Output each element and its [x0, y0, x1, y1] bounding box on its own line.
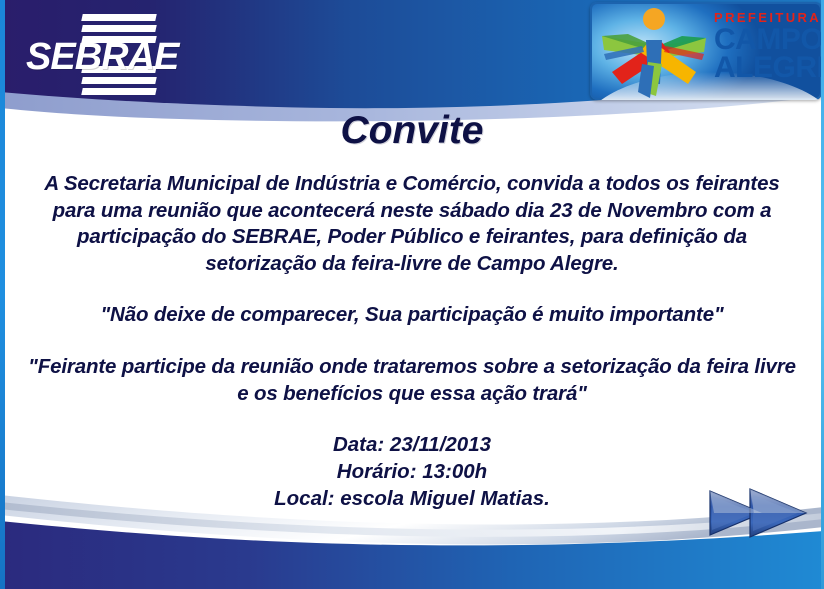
invitation-paragraph-1: A Secretaria Municipal de Indústria e Co… — [42, 171, 782, 278]
invitation-content: Convite A Secretaria Municipal de Indúst… — [10, 104, 814, 512]
event-details: Data: 23/11/2013 Horário: 13:00h Local: … — [10, 432, 814, 512]
sebrae-wordmark: SEBRAE — [26, 38, 191, 76]
left-border-stripe — [0, 0, 5, 589]
event-place: Local: escola Miguel Matias. — [10, 486, 814, 513]
event-time: Horário: 13:00h — [10, 459, 814, 486]
page-title: Convite — [10, 110, 814, 153]
campo-label: CAMPO — [714, 26, 820, 54]
event-date: Data: 23/11/2013 — [10, 432, 814, 459]
campo-alegre-wordmark: PREFEITURA CAMPO ALEGRE — [714, 11, 820, 81]
invitation-paragraph-3: "Feirante participe da reunião onde trat… — [27, 354, 797, 407]
sebrae-logo: SEBRAE — [26, 14, 191, 100]
invitation-paragraph-2: "Não deixe de comparecer, Sua participaç… — [10, 302, 814, 329]
invitation-poster: SEBRAE — [0, 0, 824, 589]
campo-alegre-logo-panel: PREFEITURA CAMPO ALEGRE — [590, 2, 822, 100]
alegre-label: ALEGRE — [714, 54, 820, 82]
campo-alegre-figure-icon — [598, 6, 710, 100]
